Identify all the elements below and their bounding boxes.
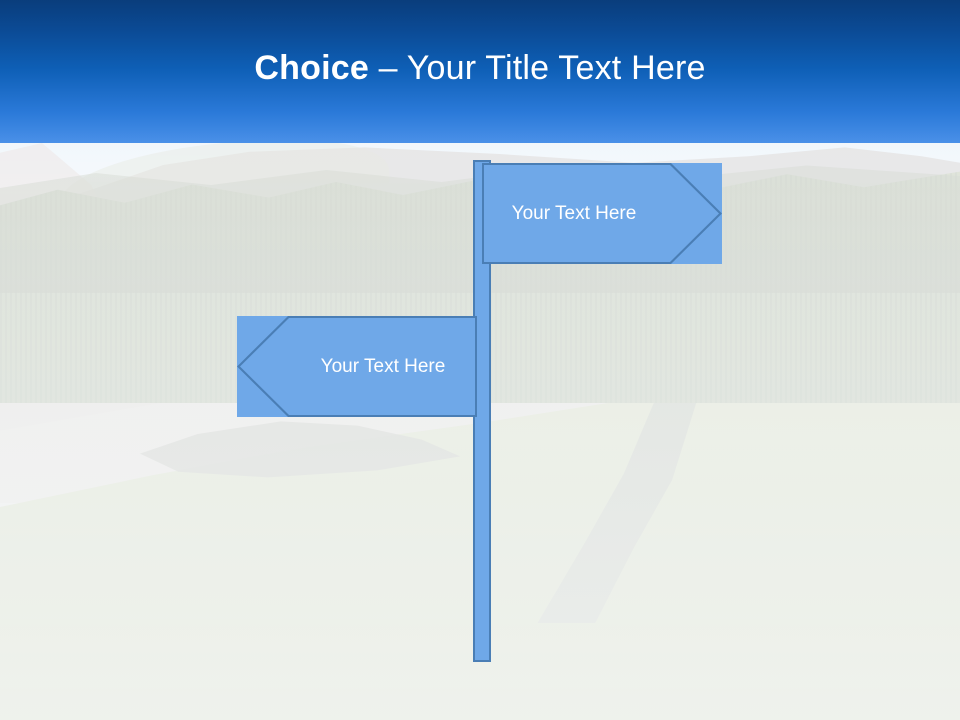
- page-title-separator: –: [369, 49, 407, 87]
- page-title-rest: Your Title Text Here: [407, 49, 706, 87]
- page-title-emphasis: Choice: [254, 49, 369, 87]
- sign-left-arrow[interactable]: Your Text Here: [237, 316, 477, 417]
- page-title: Choice – Your Title Text Here: [0, 47, 960, 89]
- sign-right-arrow[interactable]: Your Text Here: [482, 163, 722, 264]
- slide-canvas: Choice – Your Title Text Here Your Text …: [0, 0, 960, 720]
- sign-right-arrow-label: Your Text Here: [482, 203, 666, 225]
- title-band: Choice – Your Title Text Here: [0, 0, 960, 143]
- sign-left-arrow-label: Your Text Here: [289, 356, 477, 378]
